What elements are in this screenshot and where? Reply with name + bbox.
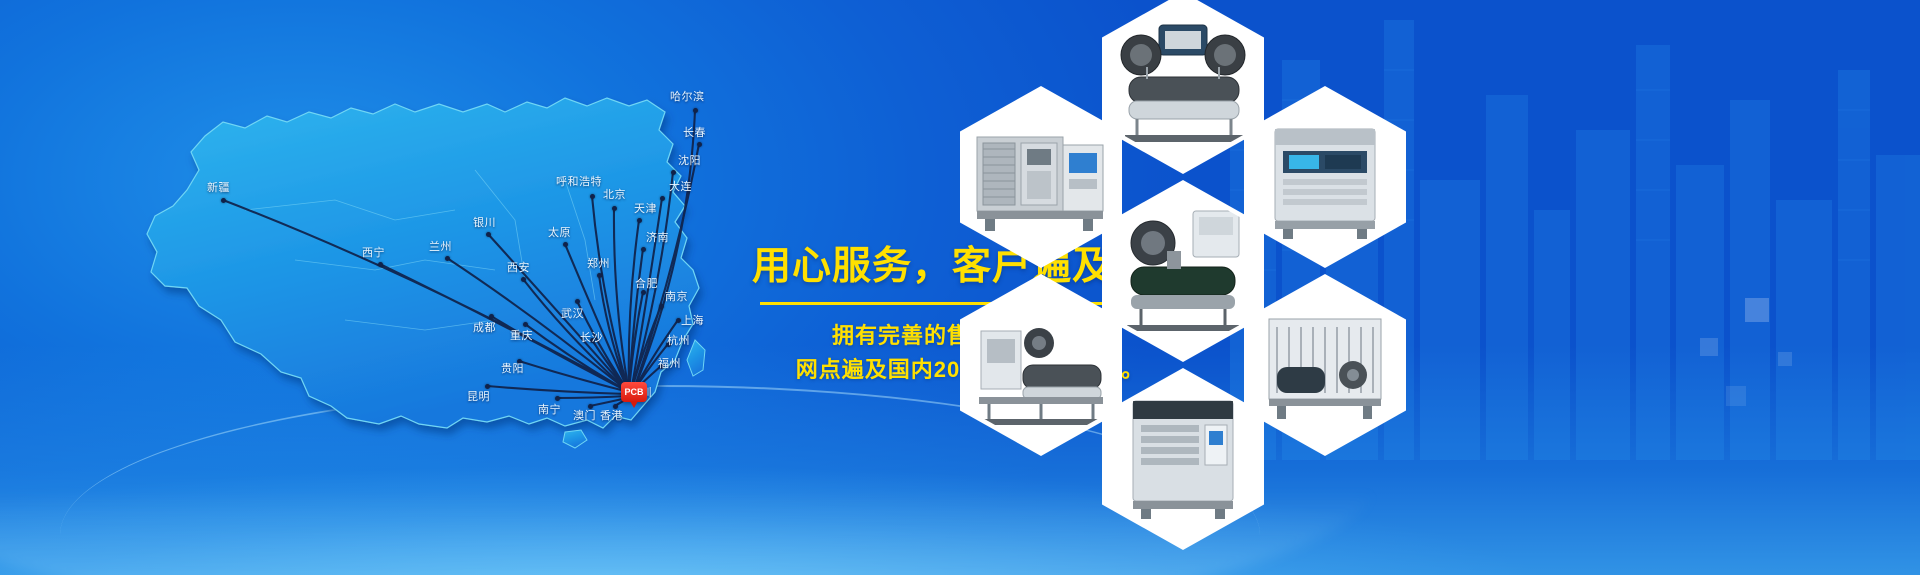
product-image-air-cooled-box-chiller [965, 91, 1117, 263]
promo-banner: 新疆哈尔滨长春沈阳呼和浩特北京大连天津银川太原兰州济南西宁郑州西安合肥南京武汉上… [0, 0, 1920, 575]
product-hex-screw-compressor-unit[interactable] [1102, 180, 1264, 362]
hub-marker-shenzhen: PCB [621, 382, 647, 402]
city-dot [693, 108, 698, 113]
product-hex-air-cooled-box-chiller[interactable] [960, 86, 1122, 268]
city-dot [517, 359, 522, 364]
product-hex-open-frame-condenser-unit[interactable] [1244, 274, 1406, 456]
city-dot [221, 198, 226, 203]
city-dot [588, 404, 593, 409]
city-dot [637, 218, 642, 223]
product-image-industrial-air-cooled-chiller [1249, 91, 1401, 263]
china-map: 新疆哈尔滨长春沈阳呼和浩特北京大连天津银川太原兰州济南西宁郑州西安合肥南京武汉上… [95, 20, 735, 450]
product-image-open-frame-condenser-unit [1249, 279, 1401, 451]
product-image-water-cooled-screw-chiller [1107, 0, 1259, 169]
city-dot [676, 318, 681, 323]
city-dot [590, 194, 595, 199]
city-dot [378, 262, 383, 267]
city-dot [575, 299, 580, 304]
city-dot [641, 290, 646, 295]
decor-square-1 [1745, 298, 1769, 322]
city-dot [697, 142, 702, 147]
city-dot [659, 364, 664, 369]
city-dot [671, 170, 676, 175]
city-dot [563, 242, 568, 247]
city-dot [485, 384, 490, 389]
product-hex-water-cooled-box-unit[interactable] [960, 274, 1122, 456]
product-hex-industrial-air-cooled-chiller[interactable] [1244, 86, 1406, 268]
product-hex-gallery [960, 0, 1520, 575]
city-dot [445, 256, 450, 261]
product-hex-water-cooled-screw-chiller[interactable] [1102, 0, 1264, 174]
product-image-screw-compressor-unit [1107, 185, 1259, 357]
city-dot [590, 338, 595, 343]
city-dot [489, 314, 494, 319]
city-dot [659, 304, 664, 309]
city-dot [666, 342, 671, 347]
decor-square-4 [1726, 386, 1746, 406]
city-dot [641, 247, 646, 252]
city-dot [521, 277, 526, 282]
decor-square-2 [1700, 338, 1718, 356]
city-dot [555, 396, 560, 401]
city-dot [613, 404, 618, 409]
product-image-cabinet-water-chiller [1107, 373, 1259, 545]
city-dot [612, 206, 617, 211]
city-dot [486, 232, 491, 237]
city-dot [523, 322, 528, 327]
city-dot [597, 273, 602, 278]
city-dot [660, 196, 665, 201]
product-image-water-cooled-box-unit [965, 279, 1117, 451]
product-hex-cabinet-water-chiller[interactable] [1102, 368, 1264, 550]
decor-square-3 [1778, 352, 1792, 366]
